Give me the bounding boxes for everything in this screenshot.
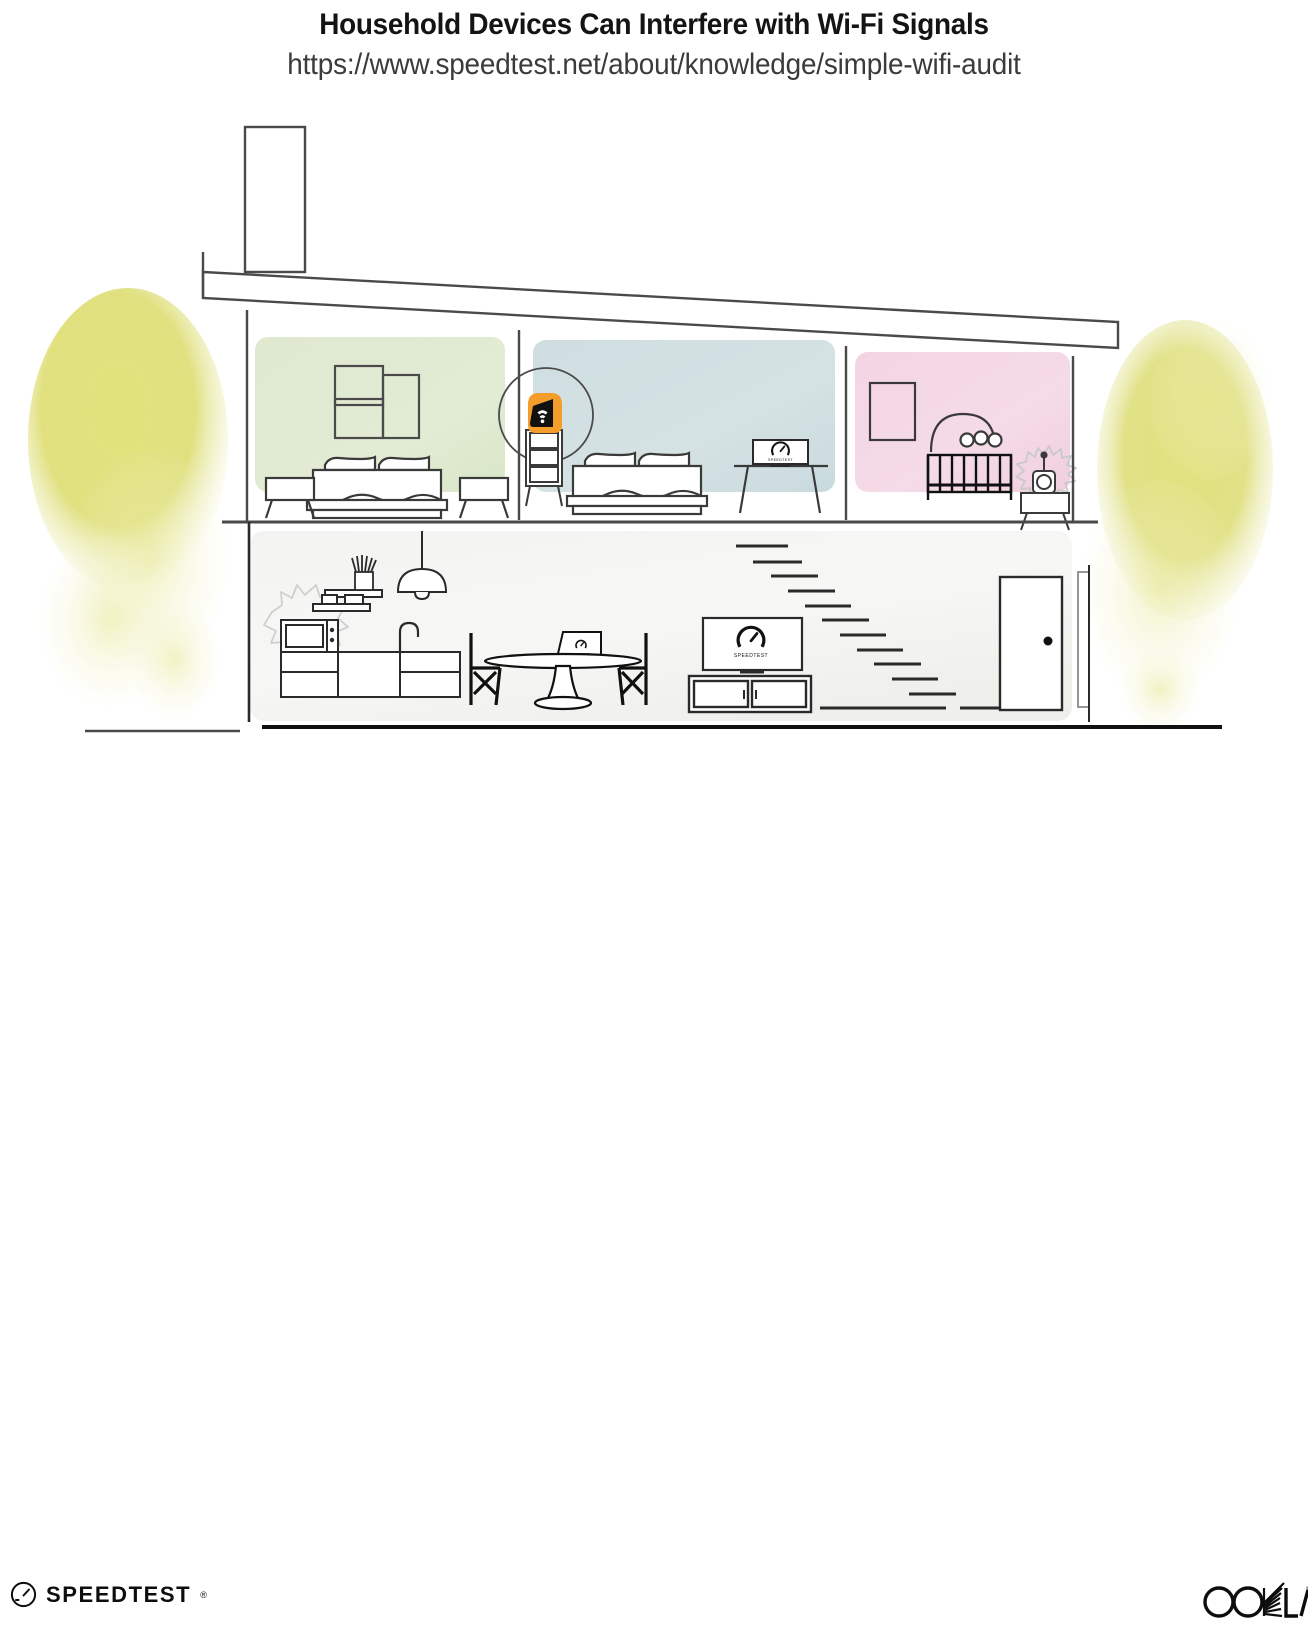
bed-platform bbox=[313, 510, 441, 518]
foliage-left bbox=[28, 288, 228, 718]
pillow-left bbox=[585, 453, 635, 466]
microwave bbox=[281, 620, 338, 652]
kitchen-counters bbox=[281, 652, 460, 697]
pillow-left bbox=[325, 457, 375, 470]
crib bbox=[928, 455, 1011, 500]
bed-base bbox=[307, 500, 447, 510]
wifi-router bbox=[528, 393, 562, 433]
tv-brand-text: SPEEDTEST bbox=[734, 653, 768, 659]
nightstand-right bbox=[460, 478, 508, 518]
upper-floor: SPEEDTEST bbox=[222, 310, 1098, 530]
main-floor: SPEEDTEST bbox=[85, 522, 1222, 731]
roof bbox=[203, 127, 1118, 348]
tv-stand bbox=[740, 670, 764, 674]
shelf-lower bbox=[313, 604, 370, 611]
speedtest-logo[interactable]: SPEEDTEST ® bbox=[10, 1581, 207, 1608]
ookla-la bbox=[1286, 1588, 1308, 1616]
bed-platform bbox=[573, 506, 701, 514]
nursery-side-table bbox=[1021, 493, 1069, 530]
door-knob bbox=[1044, 637, 1053, 646]
pillow-right bbox=[379, 457, 429, 470]
mattress bbox=[313, 470, 441, 504]
bed-base bbox=[567, 496, 707, 506]
nightstand-left bbox=[266, 478, 314, 518]
footer: SPEEDTEST ® ® bbox=[0, 781, 1308, 861]
foliage-right bbox=[1082, 320, 1273, 730]
infographic-page: Household Devices Can Interfere with Wi-… bbox=[0, 0, 1308, 861]
chimney bbox=[245, 127, 305, 272]
monitor: SPEEDTEST bbox=[753, 440, 808, 467]
mattress bbox=[573, 466, 701, 500]
table-foot bbox=[535, 697, 591, 709]
speedtest-trademark: ® bbox=[200, 1590, 207, 1600]
roof-slab bbox=[203, 272, 1118, 348]
ookla-logo[interactable]: ® bbox=[1202, 1579, 1308, 1625]
ookla-k-fan bbox=[1264, 1583, 1284, 1616]
monitor-brand-text: SPEEDTEST bbox=[768, 458, 793, 462]
front-door bbox=[1000, 577, 1062, 710]
media-console bbox=[689, 676, 811, 712]
window bbox=[1078, 572, 1089, 707]
television: SPEEDTEST bbox=[703, 618, 802, 674]
speedometer-icon bbox=[10, 1581, 37, 1608]
monitor-stand bbox=[770, 464, 790, 467]
house-illustration: SPEEDTEST bbox=[0, 0, 1308, 790]
bowl-2 bbox=[345, 595, 363, 604]
pillow-right bbox=[639, 453, 689, 466]
dresser bbox=[526, 430, 562, 506]
speedtest-wordmark: SPEEDTEST bbox=[46, 1582, 191, 1608]
bowl-1 bbox=[322, 595, 337, 604]
